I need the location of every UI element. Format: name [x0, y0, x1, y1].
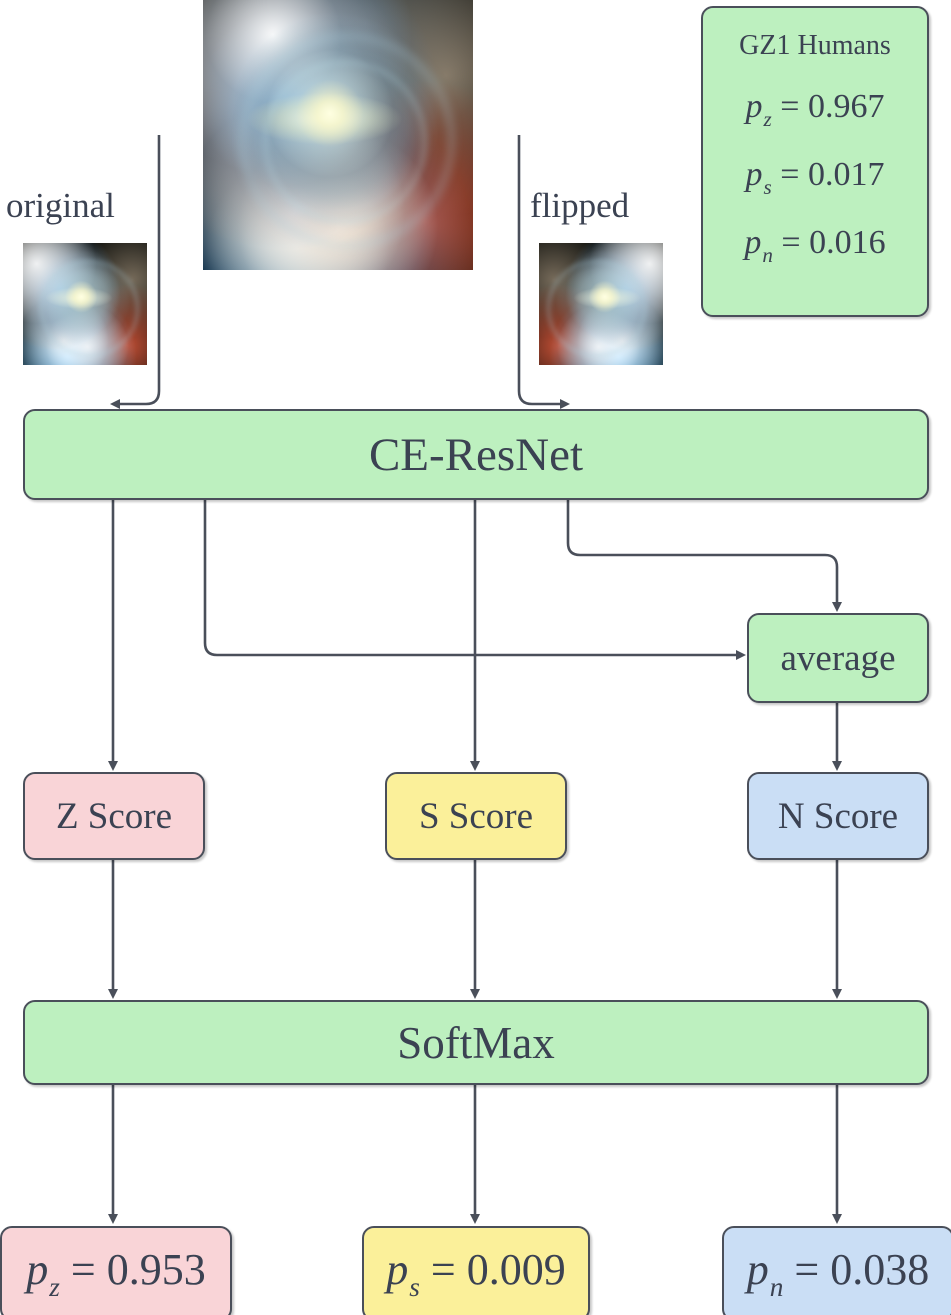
output-pn[interactable]: pn = 0.038	[722, 1226, 951, 1315]
node-softmax[interactable]: SoftMax	[23, 1000, 929, 1085]
output-pn-value: 0.038	[830, 1245, 929, 1294]
output-ps-subscript: s	[408, 1272, 420, 1302]
output-pn-text: pn = 0.038	[747, 1244, 929, 1302]
output-pz-subscript: z	[48, 1272, 60, 1302]
output-ps-symbol: p	[386, 1245, 408, 1294]
output-ps[interactable]: ps = 0.009	[362, 1226, 590, 1315]
node-average[interactable]: average	[747, 613, 929, 703]
output-pn-equals: =	[794, 1245, 819, 1294]
edge-backbone-to-average-left	[205, 500, 741, 655]
node-z-score[interactable]: Z Score	[23, 772, 205, 860]
n-score-label: N Score	[778, 795, 898, 838]
output-ps-value: 0.009	[467, 1245, 566, 1294]
z-score-label: Z Score	[56, 795, 172, 838]
output-pn-symbol: p	[747, 1245, 769, 1294]
edge-flipped-to-backbone	[519, 135, 565, 404]
output-ps-equals: =	[431, 1245, 456, 1294]
s-score-label: S Score	[419, 795, 533, 838]
output-ps-text: ps = 0.009	[386, 1244, 565, 1302]
output-pz-symbol: p	[26, 1245, 48, 1294]
output-pn-subscript: n	[769, 1272, 784, 1302]
output-pz-equals: =	[71, 1245, 96, 1294]
softmax-label: SoftMax	[397, 1017, 555, 1069]
node-s-score[interactable]: S Score	[385, 772, 567, 860]
edge-original-to-backbone	[115, 135, 159, 404]
output-pz[interactable]: pz = 0.953	[0, 1226, 232, 1315]
output-pz-value: 0.953	[107, 1245, 206, 1294]
node-ce-resnet[interactable]: CE-ResNet	[23, 409, 929, 500]
diagram-canvas: original flipped GZ1 Humans pz = 0.967 p…	[0, 0, 951, 1315]
edge-backbone-to-average-top	[568, 500, 837, 607]
node-n-score[interactable]: N Score	[747, 772, 929, 860]
output-pz-text: pz = 0.953	[26, 1244, 205, 1302]
average-label: average	[780, 637, 895, 680]
ce-resnet-label: CE-ResNet	[369, 428, 583, 482]
